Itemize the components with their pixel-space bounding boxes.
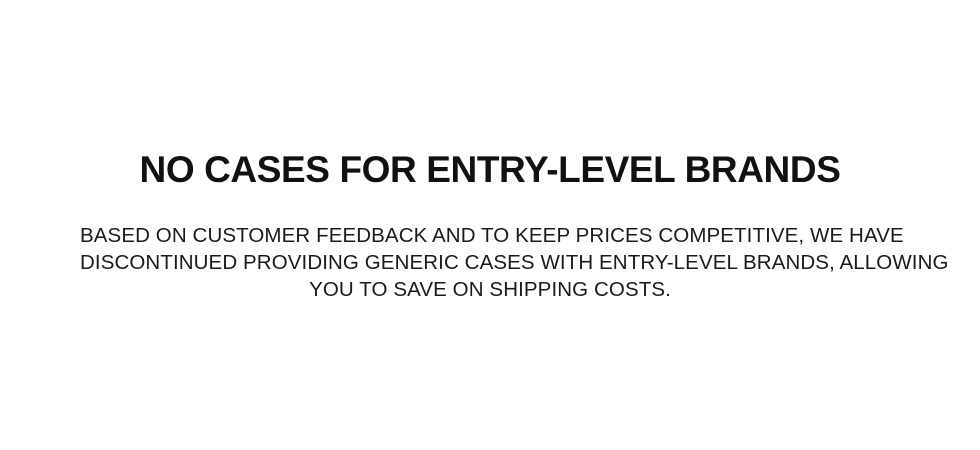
info-notice-block: NO CASES FOR ENTRY-LEVEL BRANDS BASED ON… (0, 0, 980, 450)
notice-heading: NO CASES FOR ENTRY-LEVEL BRANDS (0, 148, 980, 192)
notice-body-line: BASED ON CUSTOMER FEEDBACK AND TO KEEP P… (80, 222, 900, 249)
notice-body-line: DISCONTINUED PROVIDING GENERIC CASES WIT… (80, 249, 900, 276)
notice-body-line: YOU TO SAVE ON SHIPPING COSTS. (80, 276, 900, 303)
notice-body-text: BASED ON CUSTOMER FEEDBACK AND TO KEEP P… (80, 222, 900, 303)
